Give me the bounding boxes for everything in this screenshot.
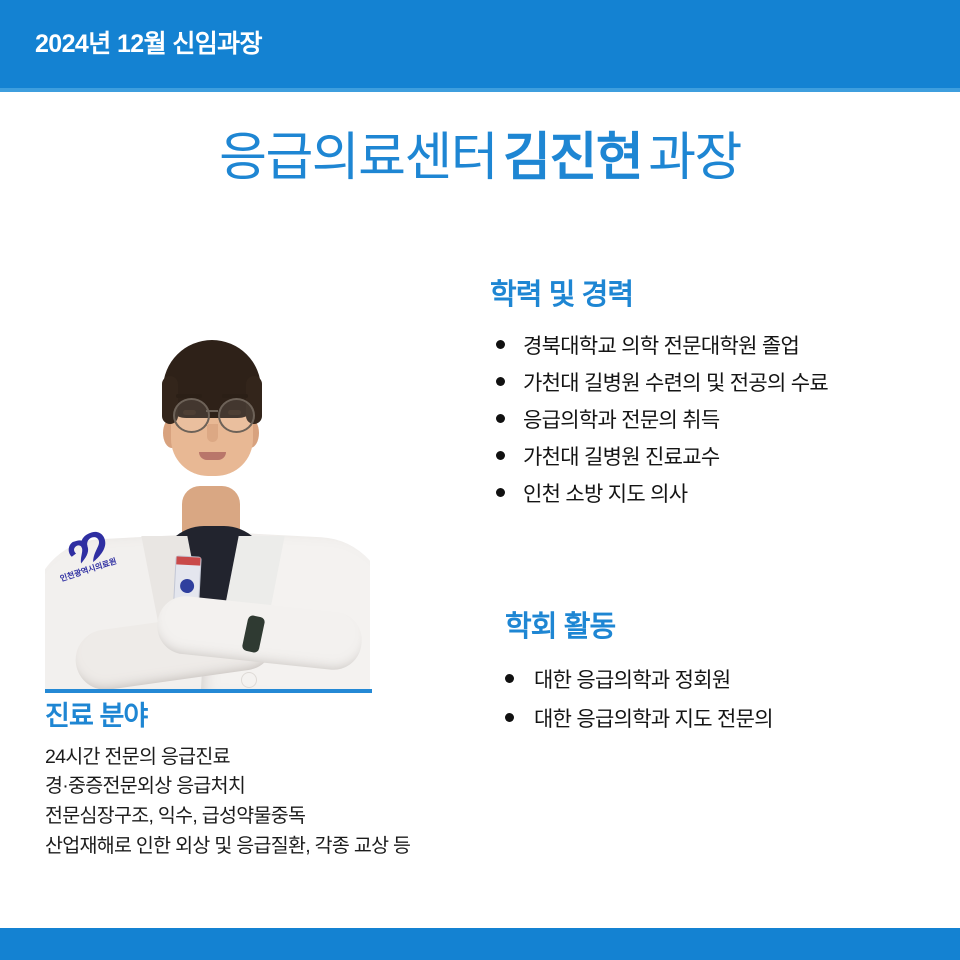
career-item-label: 가천대 길병원 진료교수	[523, 446, 719, 469]
specialty-divider	[45, 689, 372, 693]
career-item-label: 인천 소방 지도 의사	[523, 483, 687, 506]
doctor-photo: 인천광역시의료원	[45, 268, 370, 690]
bullet-icon	[496, 414, 505, 423]
list-item: 인천 소방 지도 의사	[496, 483, 950, 506]
specialty-line: 경·중증전문외상 응급처치	[45, 772, 465, 802]
society-heading: 학회 활동	[505, 610, 955, 645]
glasses-lens-left	[173, 398, 210, 433]
list-item: 응급의학과 전문의 취득	[496, 409, 950, 432]
society-section: 학회 활동 대한 응급의학과 정회원 대한 응급의학과 지도 전문의	[505, 610, 955, 747]
specialty-section: 진료 분야 24시간 전문의 응급진료 경·중증전문외상 응급처치 전문심장구조…	[45, 700, 465, 861]
list-item: 가천대 길병원 진료교수	[496, 446, 950, 469]
title-doctor-name: 김진현	[503, 129, 642, 187]
page-title: 응급의료센터김진현과장	[0, 128, 960, 189]
photo-canvas: 인천광역시의료원	[45, 268, 370, 690]
society-list: 대한 응급의학과 정회원 대한 응급의학과 지도 전문의	[505, 669, 955, 731]
title-rank: 과장	[648, 129, 741, 187]
footer-bar	[0, 928, 960, 960]
header-bar: 2024년 12월 신임과장	[0, 0, 960, 88]
specialty-line: 전문심장구조, 익수, 급성약물중독	[45, 802, 465, 832]
id-badge-header	[176, 556, 200, 565]
mouth	[199, 452, 226, 460]
society-item-label: 대한 응급의학과 정회원	[534, 669, 730, 692]
glasses-lens-right	[218, 398, 255, 433]
list-item: 대한 응급의학과 지도 전문의	[505, 708, 955, 731]
specialty-line: 산업재해로 인한 외상 및 응급질환, 각종 교상 등	[45, 832, 465, 862]
header-underline	[0, 88, 960, 92]
nose	[207, 424, 218, 442]
list-item: 경북대학교 의학 전문대학원 졸업	[496, 335, 950, 358]
bullet-icon	[496, 340, 505, 349]
specialty-line: 24시간 전문의 응급진료	[45, 743, 465, 773]
doctor-intro-card: 2024년 12월 신임과장 응급의료센터김진현과장 인천광역시	[0, 0, 960, 960]
bullet-icon	[496, 377, 505, 386]
career-list: 경북대학교 의학 전문대학원 졸업 가천대 길병원 수련의 및 전공의 수료 응…	[490, 335, 950, 506]
list-item: 대한 응급의학과 정회원	[505, 669, 955, 692]
career-item-label: 경북대학교 의학 전문대학원 졸업	[523, 335, 799, 358]
bullet-icon	[496, 488, 505, 497]
list-item: 가천대 길병원 수련의 및 전공의 수료	[496, 372, 950, 395]
header-title: 2024년 12월 신임과장	[35, 32, 262, 57]
coat-button	[241, 672, 257, 688]
specialty-heading: 진료 분야	[45, 700, 465, 734]
title-department: 응급의료센터	[219, 129, 497, 187]
career-heading: 학력 및 경력	[490, 278, 950, 313]
career-item-label: 응급의학과 전문의 취득	[523, 409, 719, 432]
career-section: 학력 및 경력 경북대학교 의학 전문대학원 졸업 가천대 길병원 수련의 및 …	[490, 278, 950, 520]
society-item-label: 대한 응급의학과 지도 전문의	[534, 708, 773, 731]
bullet-icon	[505, 674, 514, 683]
glasses-bridge	[206, 410, 218, 412]
id-badge-emblem	[180, 579, 195, 594]
bullet-icon	[505, 713, 514, 722]
bullet-icon	[496, 451, 505, 460]
career-item-label: 가천대 길병원 수련의 및 전공의 수료	[523, 372, 828, 395]
